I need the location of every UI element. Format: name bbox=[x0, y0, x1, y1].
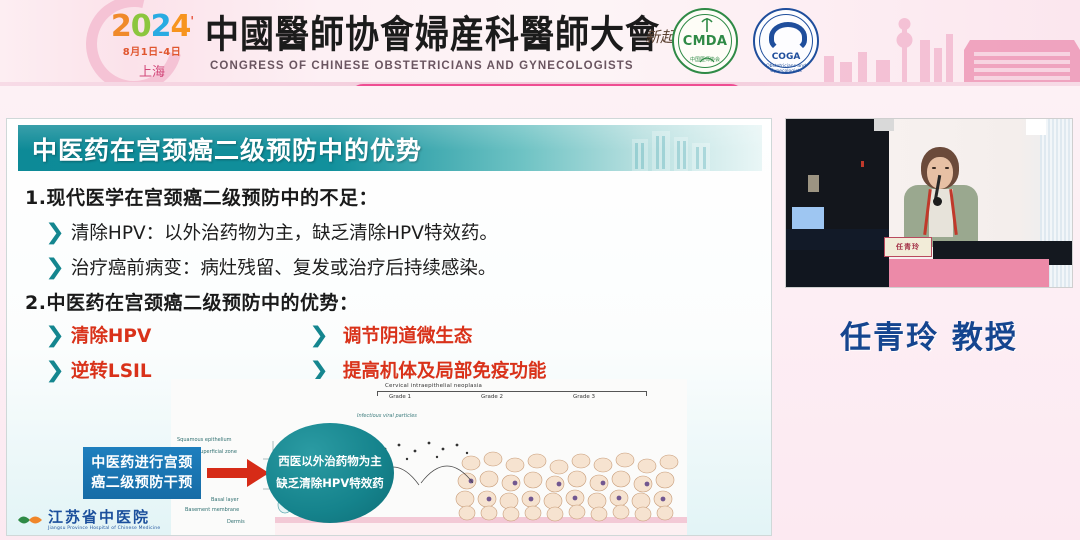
event-city: 上海 bbox=[106, 61, 198, 80]
diagram-grade-1: Grade 1 bbox=[389, 394, 411, 400]
shanghai-skyline-graphic bbox=[820, 10, 1080, 82]
section2-bullet-left-1-text: 清除HPV bbox=[71, 322, 151, 348]
chevron-right-icon: ❯ bbox=[45, 359, 65, 381]
chevron-right-icon: ❯ bbox=[45, 256, 65, 278]
tcm-callout-line-2: 癌二级预防干预 bbox=[91, 473, 193, 493]
tcm-callout-line-1: 中医药进行宫颈 bbox=[91, 453, 193, 473]
section1-bullet-2-text: 治疗癌前病变：病灶残留、复发或治疗后持续感染。 bbox=[71, 254, 497, 280]
coga-swirl-icon bbox=[769, 22, 807, 52]
speaker-nameplate-text: 任青玲 bbox=[896, 242, 920, 252]
hospital-logo-text-wrap: 江苏省中医院 Jiangsu Province Hospital of Chin… bbox=[48, 510, 160, 531]
wm-callout-line-1: 西医以外治药物为主 bbox=[278, 451, 382, 473]
hospital-leaf-icon bbox=[17, 513, 43, 527]
tcm-intervention-callout: 中医药进行宫颈 癌二级预防干预 bbox=[83, 447, 201, 499]
hospital-name-en: Jiangsu Province Hospital of Chinese Med… bbox=[48, 526, 160, 531]
congress-title-cn-suffix: 新起 bbox=[645, 28, 675, 46]
hospital-logo: 江苏省中医院 Jiangsu Province Hospital of Chin… bbox=[17, 507, 207, 533]
section2-heading: 2.中医药在宫颈癌二级预防中的优势： bbox=[25, 288, 358, 315]
video-white-patch bbox=[1026, 119, 1046, 135]
chevron-right-icon: ❯ bbox=[309, 324, 329, 346]
chevron-right-icon: ❯ bbox=[309, 359, 329, 381]
speaker-eye-left bbox=[932, 167, 936, 169]
coga-sub: Obstetricians and Gynecologists bbox=[755, 64, 817, 74]
speaker-nameplate: 任青玲 bbox=[884, 237, 932, 257]
section1-bullet-2: ❯ 治疗癌前病变：病灶残留、复发或治疗后持续感染。 bbox=[47, 254, 496, 280]
wm-callout-line-2: 缺乏清除HPV特效药 bbox=[276, 473, 383, 495]
year-accent: ' bbox=[190, 14, 193, 28]
year-digit-2: 0 bbox=[131, 9, 151, 44]
coga-emblem-icon: COGA Obstetricians and Gynecologists bbox=[753, 8, 819, 74]
section1-heading: 1.现代医学在宫颈癌二级预防中的不足： bbox=[25, 183, 378, 210]
event-logo: 2024' 8月1日-4日 上海 bbox=[106, 6, 198, 80]
chevron-right-icon: ❯ bbox=[45, 221, 65, 243]
section2-bullet-right-1: ❯ 调节阴道微生态 bbox=[311, 322, 472, 348]
chevron-right-icon: ❯ bbox=[45, 324, 65, 346]
diagram-grade-3: Grade 3 bbox=[573, 394, 595, 400]
section1-bullet-1: ❯ 清除HPV：以外治药物为主，缺乏清除HPV特效药。 bbox=[47, 219, 498, 245]
slide-title-text: 中医药在宫颈癌二级预防中的优势 bbox=[32, 131, 422, 167]
building-watermark-icon bbox=[626, 127, 720, 171]
hospital-name-cn: 江苏省中医院 bbox=[48, 510, 160, 525]
year-digit-1: 2 bbox=[111, 9, 131, 44]
diagram-caption: Cervical intraepithelial neoplasia bbox=[385, 383, 482, 389]
section2-bullet-left-2: ❯ 逆转LSIL bbox=[47, 357, 152, 383]
section2-bullet-left-2-text: 逆转LSIL bbox=[71, 357, 152, 383]
congress-title-en: CONGRESS OF CHINESE OBSTETRICIANS AND GY… bbox=[210, 60, 630, 72]
speaker-name-caption: 任青玲 教授 bbox=[785, 312, 1073, 357]
coga-abbr: COGA bbox=[755, 52, 817, 62]
screen-root: 2024' 8月1日-4日 上海 中國醫師协會婦産科醫師大會 新起 CONGRE… bbox=[0, 0, 1080, 540]
congress-title-cn-suffix-wrap: 新起 bbox=[645, 26, 675, 47]
diagram-grade-2: Grade 2 bbox=[481, 394, 503, 400]
year-digit-3: 2 bbox=[151, 9, 171, 44]
video-wall-screen bbox=[874, 119, 894, 131]
epithelium-illustration bbox=[171, 441, 687, 536]
red-arrow-icon bbox=[207, 459, 269, 487]
microphone-head-icon bbox=[933, 197, 942, 206]
diagram-range-rule bbox=[377, 391, 647, 392]
cmda-caduceus-icon bbox=[674, 10, 740, 76]
slide-title-bar: 中医药在宫颈癌二级预防中的优势 bbox=[18, 125, 762, 171]
event-header-banner: 2024' 8月1日-4日 上海 中國醫師协會婦産科醫師大會 新起 CONGRE… bbox=[0, 0, 1080, 86]
section2-bullet-left-1: ❯ 清除HPV bbox=[47, 322, 151, 348]
speaker-eye-right bbox=[945, 167, 949, 169]
cin-progression-diagram: Cervical intraepithelial neoplasia Grade… bbox=[171, 379, 687, 536]
video-wall-box bbox=[808, 175, 819, 192]
section1-bullet-1-text: 清除HPV：以外治药物为主，缺乏清除HPV特效药。 bbox=[71, 219, 498, 245]
speaker-video-feed[interactable]: 任青玲 bbox=[785, 118, 1073, 288]
event-dates: 8月1日-4日 bbox=[106, 43, 198, 58]
congress-title-cn: 中國醫師协會婦産科醫師大會 bbox=[205, 4, 645, 67]
video-red-light-icon bbox=[861, 161, 864, 167]
event-year: 2024' bbox=[106, 6, 198, 42]
podium-front-panel bbox=[889, 259, 1049, 288]
western-medicine-callout: 西医以外治药物为主 缺乏清除HPV特效药 bbox=[266, 423, 394, 523]
presentation-slide[interactable]: 中医药在宫颈癌二级预防中的优势 1.现代医学在宫颈癌二级预防中的不足： ❯ 清除… bbox=[6, 118, 772, 536]
year-digit-4: 4 bbox=[171, 9, 191, 44]
section2-bullet-right-1-text: 调节阴道微生态 bbox=[343, 322, 473, 348]
cmda-emblem-icon: CMDA 中国医师协会 bbox=[672, 8, 738, 74]
video-laptop-desk bbox=[786, 229, 889, 250]
speaker-face bbox=[927, 157, 953, 189]
video-laptop-screen bbox=[792, 207, 824, 229]
diagram-viral-label: Infectious viral particles bbox=[357, 413, 417, 419]
